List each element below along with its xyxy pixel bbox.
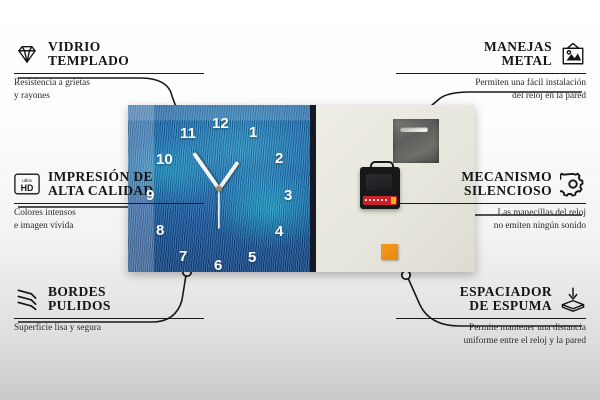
metal-hanger-plate: [393, 119, 439, 163]
callout-title-line1: BORDES: [48, 285, 106, 299]
callout-mecanismo-silencioso: MECANISMO SILENCIOSO Las manecillas del …: [396, 170, 586, 232]
polished-edges-icon: [14, 286, 40, 312]
callout-description: Las manecillas del reloj no emiten ningú…: [396, 207, 586, 232]
callout-manejas-metal: MANEJAS METAL Permiten una fácil instala…: [396, 40, 586, 102]
callout-description: Resistencia a grietas y rayones: [14, 77, 204, 102]
clock-center-pin: [216, 186, 222, 192]
callout-description: Colores intensos e imagen vívida: [14, 207, 204, 232]
callout-title-line2: DE ESPUMA: [469, 299, 552, 313]
callout-title-line1: MECANISMO: [461, 170, 552, 184]
callout-bordes-pulidos: BORDES PULIDOS Superficie lisa y segura: [14, 285, 204, 335]
hanger-slot: [400, 127, 428, 132]
callout-title-line2: PULIDOS: [48, 299, 111, 313]
callout-desc-line2: no emiten ningún sonido: [396, 220, 586, 232]
clock-numeral-7: 7: [179, 249, 187, 264]
clock-numeral-12: 12: [212, 116, 229, 131]
callout-description: Permite mantener una distancia uniforme …: [396, 322, 586, 347]
callout-desc-line1: Permite mantener una distancia: [396, 322, 586, 334]
callout-title-line2: METAL: [501, 54, 552, 68]
callout-title-line1: MANEJAS: [484, 40, 552, 54]
callout-desc-line1: Superficie lisa y segura: [14, 322, 204, 334]
clock-numeral-10: 10: [156, 152, 173, 167]
clock-numeral-9: 9: [146, 188, 154, 203]
clock-numeral-4: 4: [275, 224, 283, 239]
callout-desc-line2: y rayones: [14, 90, 204, 102]
callout-title-line2: ALTA CALIDAD: [48, 184, 154, 198]
clock-hour-hand: [217, 160, 239, 189]
callout-desc-line2: uniforme entre el reloj y la pared: [396, 335, 586, 347]
clock-numeral-6: 6: [214, 258, 222, 272]
battery: [363, 196, 397, 205]
callout-desc-line1: Permiten una fácil instalación: [396, 77, 586, 89]
callout-description: Permiten una fácil instalación del reloj…: [396, 77, 586, 102]
foam-spacer: [381, 244, 398, 260]
clock-numeral-3: 3: [284, 188, 292, 203]
clock-second-hand: [218, 189, 220, 229]
ultra-hd-icon-large-text: HD: [21, 183, 34, 193]
callout-desc-line1: Resistencia a grietas: [14, 77, 204, 89]
callout-title-line1: IMPRESIÓN DE: [48, 170, 153, 184]
callout-desc-line1: Colores intensos: [14, 207, 204, 219]
infographic-stage: 12 1 2 3 4 5 6 7 8 9 10 11: [0, 0, 600, 400]
wall-hanging-frame-icon: [560, 41, 586, 67]
callout-title-line2: TEMPLADO: [48, 54, 129, 68]
callout-rule: [396, 203, 586, 204]
callout-rule: [14, 203, 204, 204]
callout-title-line1: VIDRIO: [48, 40, 101, 54]
callout-desc-line1: Las manecillas del reloj: [396, 207, 586, 219]
battery-stripe: [365, 199, 387, 201]
clock-numeral-1: 1: [249, 125, 257, 140]
clock-mechanism-box: [360, 167, 400, 209]
callout-rule: [14, 73, 204, 74]
clock-numeral-8: 8: [156, 223, 164, 238]
callout-rule: [396, 318, 586, 319]
callout-rule: [396, 73, 586, 74]
clock-numeral-5: 5: [248, 250, 256, 265]
diamond-icon: [14, 41, 40, 67]
callout-vidrio-templado: VIDRIO TEMPLADO Resistencia a grietas y …: [14, 40, 204, 102]
callout-impresion-alta-calidad: ultra HD IMPRESIÓN DE ALTA CALIDAD Color…: [14, 170, 204, 232]
callout-title-line2: SILENCIOSO: [464, 184, 552, 198]
gear-icon: [560, 171, 586, 197]
callout-description: Superficie lisa y segura: [14, 322, 204, 334]
clock-numeral-2: 2: [275, 151, 283, 166]
callout-rule: [14, 318, 204, 319]
mechanism-dial: [366, 174, 392, 191]
callout-title-line1: ESPACIADOR: [460, 285, 552, 299]
ultra-hd-icon: ultra HD: [14, 171, 40, 197]
clock-numeral-11: 11: [180, 126, 196, 141]
callout-desc-line2: e imagen vívida: [14, 220, 204, 232]
callout-desc-line2: del reloj en la pared: [396, 90, 586, 102]
callout-espaciador-de-espuma: ESPACIADOR DE ESPUMA Permite mantener un…: [396, 285, 586, 347]
wire-dot-espaciador: [402, 271, 410, 279]
foam-spacer-arrow-icon: [560, 286, 586, 312]
